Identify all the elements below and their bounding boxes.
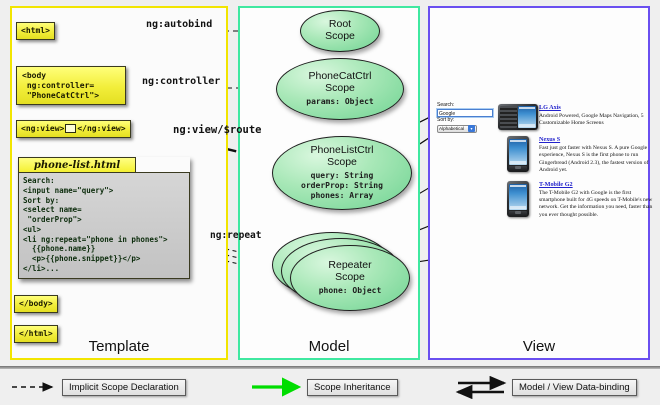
phone-snippet: The T-Mobile G2 with Google is the first… bbox=[539, 190, 653, 220]
legend: Implicit Scope Declaration Scope Inherit… bbox=[0, 366, 660, 405]
phone-portrait-icon bbox=[507, 181, 529, 217]
legend-label-implicit: Implicit Scope Declaration bbox=[62, 379, 186, 396]
phone-name-link[interactable]: LG Axis bbox=[539, 104, 653, 111]
code-box-ng-view: <ng:view></ng:view> bbox=[16, 120, 131, 138]
scope-phonelistctrl: PhoneListCtrl Scope query: String orderP… bbox=[272, 136, 412, 210]
phone-portrait-icon bbox=[507, 136, 529, 172]
column-label-view: View bbox=[430, 338, 648, 355]
ng-view-open-tag: <ng:view> bbox=[21, 124, 64, 133]
phone-name-link[interactable]: Nexus S bbox=[539, 136, 653, 143]
scope-repeater-props: phone: Object bbox=[319, 286, 382, 296]
ng-view-slot-icon bbox=[65, 124, 76, 133]
scope-phonecatctrl-title: PhoneCatCtrl Scope bbox=[308, 71, 371, 95]
ng-view-close-tag: </ng:view> bbox=[77, 124, 125, 133]
label-ng-view-route: ng:view/$route bbox=[173, 124, 262, 136]
sort-select[interactable]: Alphabetical ▾ bbox=[437, 125, 477, 133]
scope-root-title: Root Scope bbox=[325, 19, 355, 43]
phone-name-link[interactable]: T-Mobile G2 bbox=[539, 181, 653, 188]
scope-root: Root Scope bbox=[300, 10, 380, 52]
label-ng-autobind: ng:autobind bbox=[146, 19, 212, 30]
search-form: Search: Google Sort by: Alphabetical ▾ bbox=[437, 102, 499, 133]
list-item[interactable]: LG Axis Android Powered, Google Maps Nav… bbox=[503, 104, 653, 130]
legend-label-databinding: Model / View Data-binding bbox=[512, 379, 637, 396]
template-note-title: phone-list.html bbox=[18, 157, 136, 172]
phone-thumbnail bbox=[503, 181, 533, 220]
legend-icon-double-arrow-icon bbox=[458, 383, 504, 392]
code-box-body-close: </body> bbox=[14, 295, 58, 313]
phone-snippet: Fast just got faster with Nexus S. A pur… bbox=[539, 145, 653, 175]
phone-list: LG Axis Android Powered, Google Maps Nav… bbox=[503, 104, 653, 225]
column-label-model: Model bbox=[240, 338, 418, 355]
phone-landscape-keyboard-icon bbox=[498, 104, 538, 130]
legend-label-inheritance: Scope Inheritance bbox=[307, 379, 398, 396]
list-item[interactable]: Nexus S Fast just got faster with Nexus … bbox=[503, 136, 653, 175]
code-box-html-close: </html> bbox=[14, 325, 58, 343]
search-input[interactable]: Google bbox=[437, 109, 493, 117]
list-item[interactable]: T-Mobile G2 The T-Mobile G2 with Google … bbox=[503, 181, 653, 220]
diagram-canvas: Template Model View <html> <body ng:cont… bbox=[0, 0, 660, 405]
scope-repeater: Repeater Scope phone: Object bbox=[290, 245, 410, 311]
template-note-code: Search: <input name="query"> Sort by: <s… bbox=[18, 172, 190, 279]
label-ng-repeat: ng:repeat bbox=[210, 230, 261, 241]
code-box-html-open: <html> bbox=[16, 22, 55, 40]
scope-phonelistctrl-props: query: String orderProp: String phones: … bbox=[301, 171, 383, 201]
phone-snippet: Android Powered, Google Maps Navigation,… bbox=[539, 113, 653, 128]
code-box-body-open: <body ng:controller= "PhoneCatCtrl"> bbox=[16, 66, 126, 105]
scope-repeater-title: Repeater Scope bbox=[328, 260, 371, 284]
scope-phonelistctrl-title: PhoneListCtrl Scope bbox=[310, 145, 373, 169]
scope-phonecatctrl: PhoneCatCtrl Scope params: Object bbox=[276, 58, 404, 120]
sort-label: Sort by: bbox=[437, 117, 499, 124]
phone-thumbnail bbox=[503, 136, 533, 175]
scope-phonecatctrl-props: params: Object bbox=[306, 97, 373, 107]
template-note-phone-list: phone-list.html Search: <input name="que… bbox=[18, 157, 190, 279]
phone-thumbnail bbox=[503, 104, 533, 130]
search-label: Search: bbox=[437, 102, 499, 109]
sort-select-value: Alphabetical bbox=[439, 125, 464, 133]
label-ng-controller: ng:controller bbox=[142, 76, 220, 87]
chevron-down-icon: ▾ bbox=[468, 125, 475, 132]
